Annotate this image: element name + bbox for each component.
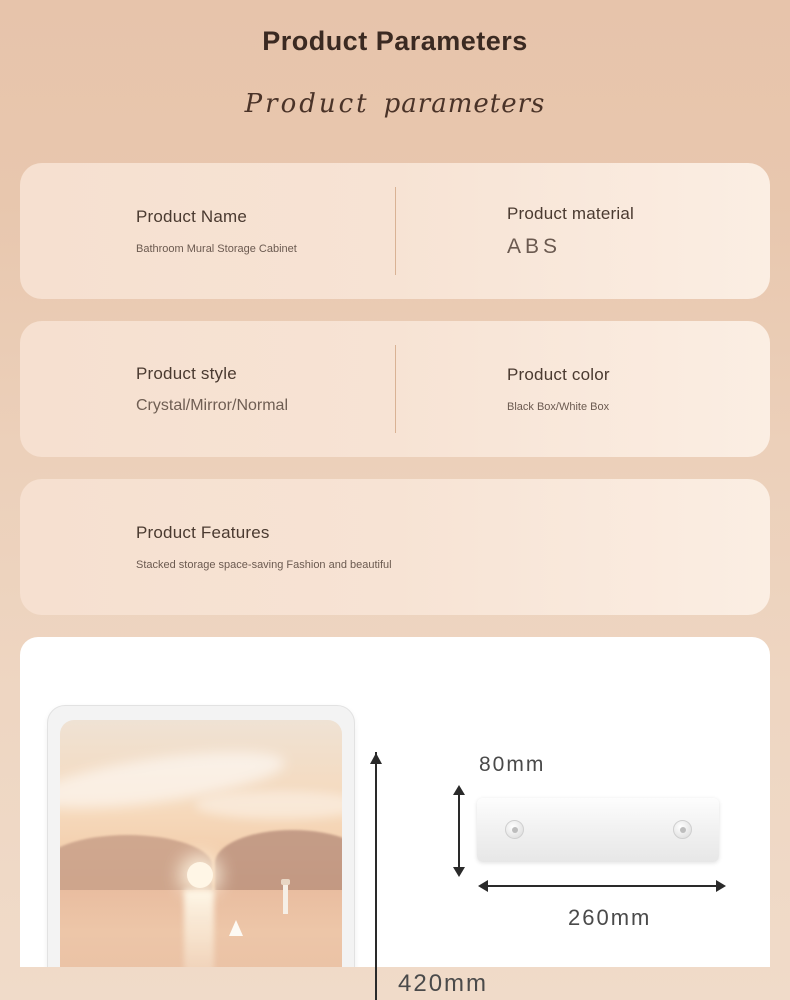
arrow-down-icon bbox=[453, 867, 465, 877]
spec-card-features: Product Features Stacked storage space-s… bbox=[20, 479, 770, 615]
product-photo bbox=[47, 705, 355, 967]
page-header: Product Parameters Productparameters bbox=[0, 0, 790, 119]
page-title: Product Parameters bbox=[0, 0, 790, 57]
spec-cell-product-style: Product style Crystal/Mirror/Normal bbox=[20, 364, 395, 415]
spec-cell-product-name: Product Name Bathroom Mural Storage Cabi… bbox=[20, 207, 395, 255]
flowers-decoration bbox=[60, 934, 342, 967]
width-dimension-label: 260mm bbox=[568, 905, 651, 931]
height-dimension-label: 420mm bbox=[398, 970, 488, 998]
spec-label: Product Features bbox=[136, 523, 770, 543]
depth-dimension-line bbox=[458, 795, 460, 867]
cloud-shape bbox=[195, 791, 342, 818]
spec-label: Product color bbox=[507, 365, 770, 385]
spec-value: Black Box/White Box bbox=[507, 401, 770, 413]
mural-artwork bbox=[60, 720, 342, 967]
spec-value: ABS bbox=[507, 235, 770, 259]
depth-dimension-label: 80mm bbox=[479, 753, 545, 777]
hill-shape bbox=[215, 830, 342, 896]
spec-label: Product style bbox=[136, 364, 395, 384]
spec-cards: Product Name Bathroom Mural Storage Cabi… bbox=[0, 163, 790, 615]
width-dimension-line bbox=[488, 885, 716, 887]
spec-value: Bathroom Mural Storage Cabinet bbox=[136, 243, 395, 255]
product-top-view bbox=[477, 798, 719, 862]
page-subtitle: Productparameters bbox=[0, 89, 790, 119]
spec-value: Crystal/Mirror/Normal bbox=[136, 397, 395, 415]
spec-value: Stacked storage space-saving Fashion and… bbox=[136, 559, 770, 571]
arrow-right-icon bbox=[716, 880, 726, 892]
spec-label: Product Name bbox=[136, 207, 395, 227]
screw-icon bbox=[505, 820, 524, 839]
arrow-left-icon bbox=[478, 880, 488, 892]
page-subtitle-word-2: parameters bbox=[384, 89, 546, 119]
spec-cell-product-material: Product material ABS bbox=[395, 204, 770, 259]
height-dimension-line bbox=[375, 752, 377, 1000]
spec-card-row-2: Product style Crystal/Mirror/Normal Prod… bbox=[20, 321, 770, 457]
spec-card-row-1: Product Name Bathroom Mural Storage Cabi… bbox=[20, 163, 770, 299]
spec-label: Product material bbox=[507, 204, 770, 224]
screw-icon bbox=[673, 820, 692, 839]
spec-cell-product-color: Product color Black Box/White Box bbox=[395, 365, 770, 413]
lighthouse-icon bbox=[283, 884, 288, 914]
arrow-up-icon bbox=[453, 785, 465, 795]
page-subtitle-word-1: Product bbox=[245, 89, 370, 119]
